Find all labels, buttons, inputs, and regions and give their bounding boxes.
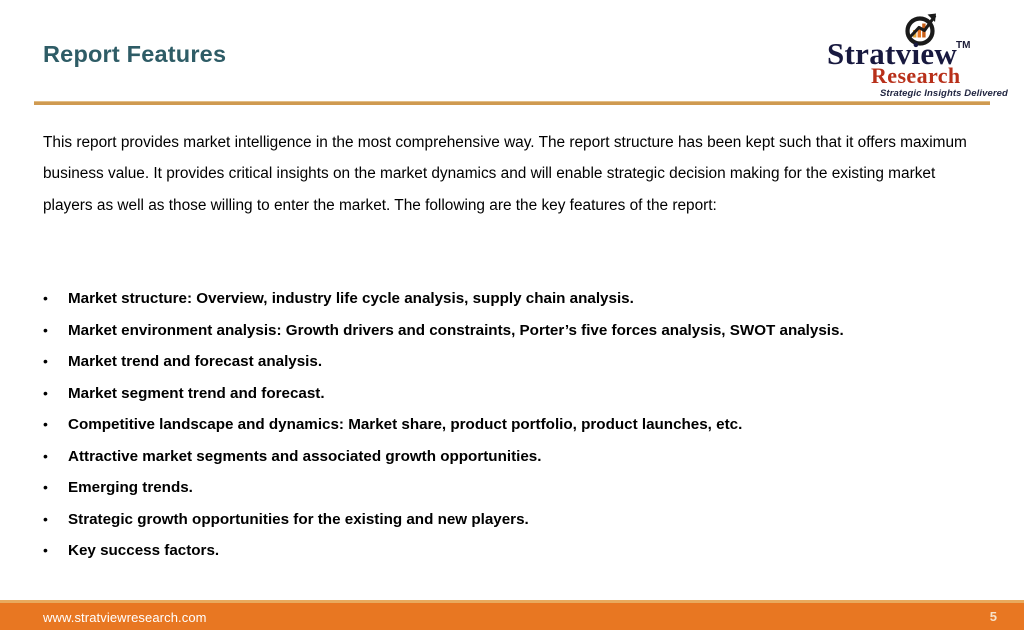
list-item-label: Market environment analysis: Growth driv… (68, 315, 844, 347)
footer-page-number: 5 (990, 609, 997, 624)
list-item-label: Market segment trend and forecast. (68, 378, 325, 410)
list-item: •Key success factors. (43, 535, 993, 567)
bullet-dot-icon: • (43, 378, 53, 410)
bullet-dot-icon: • (43, 441, 53, 473)
features-bullet-list: •Market structure: Overview, industry li… (43, 283, 993, 567)
footer-website-url[interactable]: www.stratviewresearch.com (43, 610, 207, 625)
bullet-dot-icon: • (43, 504, 53, 536)
list-item-label: Emerging trends. (68, 472, 193, 504)
list-item-label: Attractive market segments and associate… (68, 441, 541, 473)
page-title: Report Features (43, 41, 226, 68)
list-item: •Strategic growth opportunities for the … (43, 504, 993, 536)
slide: Report Features Stratview TM Research St… (0, 0, 1024, 630)
list-item: •Market trend and forecast analysis. (43, 346, 993, 378)
list-item: •Market segment trend and forecast. (43, 378, 993, 410)
bullet-dot-icon: • (43, 535, 53, 567)
logo-trademark: TM (956, 40, 970, 51)
list-item-label: Market trend and forecast analysis. (68, 346, 322, 378)
list-item: •Market structure: Overview, industry li… (43, 283, 993, 315)
bullet-dot-icon: • (43, 472, 53, 504)
bullet-dot-icon: • (43, 346, 53, 378)
logo-brand-secondary: Research (871, 65, 961, 87)
list-item: •Emerging trends. (43, 472, 993, 504)
logo-tagline: Strategic Insights Delivered (880, 88, 1008, 99)
list-item: •Market environment analysis: Growth dri… (43, 315, 993, 347)
brand-logo: Stratview TM Research Strategic Insights… (827, 8, 993, 94)
bullet-dot-icon: • (43, 409, 53, 441)
bullet-dot-icon: • (43, 315, 53, 347)
list-item-label: Market structure: Overview, industry lif… (68, 283, 634, 315)
intro-paragraph: This report provides market intelligence… (43, 127, 975, 221)
list-item: •Attractive market segments and associat… (43, 441, 993, 473)
header-divider (34, 101, 990, 105)
list-item-label: Strategic growth opportunities for the e… (68, 504, 529, 536)
bullet-dot-icon: • (43, 283, 53, 315)
slide-footer: www.stratviewresearch.com 5 (0, 603, 1024, 630)
list-item-label: Key success factors. (68, 535, 219, 567)
list-item-label: Competitive landscape and dynamics: Mark… (68, 409, 742, 441)
list-item: •Competitive landscape and dynamics: Mar… (43, 409, 993, 441)
slide-header: Report Features Stratview TM Research St… (0, 0, 1024, 105)
